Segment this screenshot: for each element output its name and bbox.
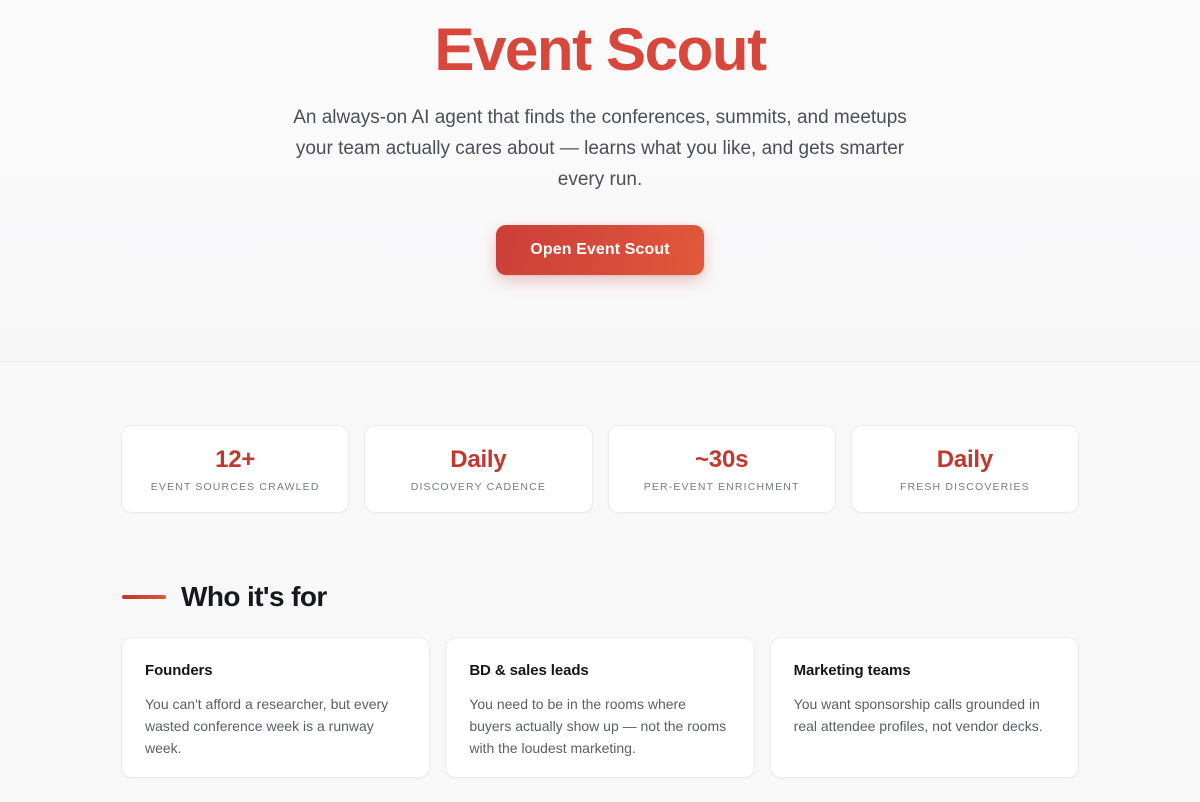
stat-card: 12+ EVENT SOURCES CRAWLED (121, 425, 349, 513)
who-its-for-heading: Who it's for (122, 581, 1079, 613)
stat-value: 12+ (215, 446, 255, 474)
section-title: Who it's for (181, 581, 327, 613)
stat-label: EVENT SOURCES CRAWLED (151, 481, 320, 493)
audience-card: BD & sales leads You need to be in the r… (445, 637, 754, 778)
stat-value: Daily (450, 446, 506, 474)
open-event-scout-button[interactable]: Open Event Scout (496, 225, 703, 275)
page-title: Event Scout (0, 8, 1200, 86)
audience-card-title: Marketing teams (794, 661, 1055, 681)
audience-card: Founders You can't afford a researcher, … (121, 637, 430, 778)
audience-card-body: You need to be in the rooms where buyers… (469, 693, 730, 759)
stat-card: ~30s PER-EVENT ENRICHMENT (608, 425, 836, 513)
stat-card: Daily DISCOVERY CADENCE (364, 425, 592, 513)
stat-label: DISCOVERY CADENCE (411, 481, 546, 493)
audience-card-body: You can't afford a researcher, but every… (145, 693, 406, 759)
stat-value: Daily (937, 446, 993, 474)
lower-section: 12+ EVENT SOURCES CRAWLED Daily DISCOVER… (0, 362, 1200, 801)
stat-card: Daily FRESH DISCOVERIES (851, 425, 1079, 513)
audience-card-body: You want sponsorship calls grounded in r… (794, 693, 1055, 737)
stat-label: FRESH DISCOVERIES (900, 481, 1030, 493)
audience-card: Marketing teams You want sponsorship cal… (770, 637, 1079, 778)
audience-cards-row: Founders You can't afford a researcher, … (121, 637, 1079, 778)
audience-card-title: BD & sales leads (469, 661, 730, 681)
accent-dash-icon (122, 595, 166, 599)
stats-row: 12+ EVENT SOURCES CRAWLED Daily DISCOVER… (121, 362, 1079, 513)
stat-value: ~30s (695, 446, 748, 474)
stat-label: PER-EVENT ENRICHMENT (644, 481, 800, 493)
hero-subtitle: An always-on AI agent that finds the con… (280, 102, 920, 195)
audience-card-title: Founders (145, 661, 406, 681)
hero-section: Event Scout An always-on AI agent that f… (0, 0, 1200, 362)
hero-cta-container: Open Event Scout (0, 225, 1200, 275)
landing-page: Event Scout An always-on AI agent that f… (0, 0, 1200, 802)
